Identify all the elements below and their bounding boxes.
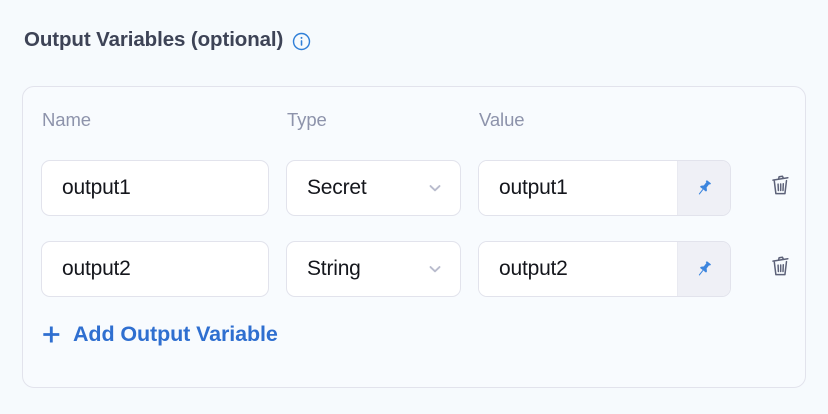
variable-value-input[interactable]: output1: [479, 161, 678, 215]
chevron-down-icon: [426, 179, 444, 197]
table-row: output1 Secret output1: [23, 160, 805, 216]
delete-row-button[interactable]: [760, 169, 800, 207]
variable-type-value: String: [307, 257, 361, 281]
variable-name-input[interactable]: output1: [41, 160, 269, 216]
column-header-type: Type: [287, 109, 327, 131]
trash-icon: [767, 253, 794, 285]
table-row: output2 String output2: [23, 241, 805, 297]
variable-name-input[interactable]: output2: [41, 241, 269, 297]
add-output-variable-label: Add Output Variable: [73, 322, 278, 347]
output-variables-card: Name Type Value output1 Secret output1: [22, 86, 806, 388]
section-header: Output Variables (optional): [24, 26, 311, 54]
pushpin-icon[interactable]: [678, 161, 730, 215]
variable-value-input[interactable]: output2: [479, 242, 678, 296]
column-header-value: Value: [479, 109, 524, 131]
variable-type-select[interactable]: String: [286, 241, 461, 297]
trash-icon: [767, 172, 794, 204]
info-circle-icon[interactable]: [292, 32, 311, 51]
variable-type-value: Secret: [307, 176, 367, 200]
page-title: Output Variables (optional): [24, 28, 283, 52]
add-output-variable-button[interactable]: Add Output Variable: [41, 319, 278, 349]
variable-value-group: output1: [478, 160, 731, 216]
output-variables-panel: Output Variables (optional) Name Type Va…: [0, 0, 828, 414]
delete-row-button[interactable]: [760, 250, 800, 288]
table-header-row: Name Type Value: [23, 109, 805, 133]
variable-value-group: output2: [478, 241, 731, 297]
variable-type-select[interactable]: Secret: [286, 160, 461, 216]
pushpin-icon[interactable]: [678, 242, 730, 296]
column-header-name: Name: [42, 109, 91, 131]
chevron-down-icon: [426, 260, 444, 278]
plus-icon: [41, 324, 62, 345]
